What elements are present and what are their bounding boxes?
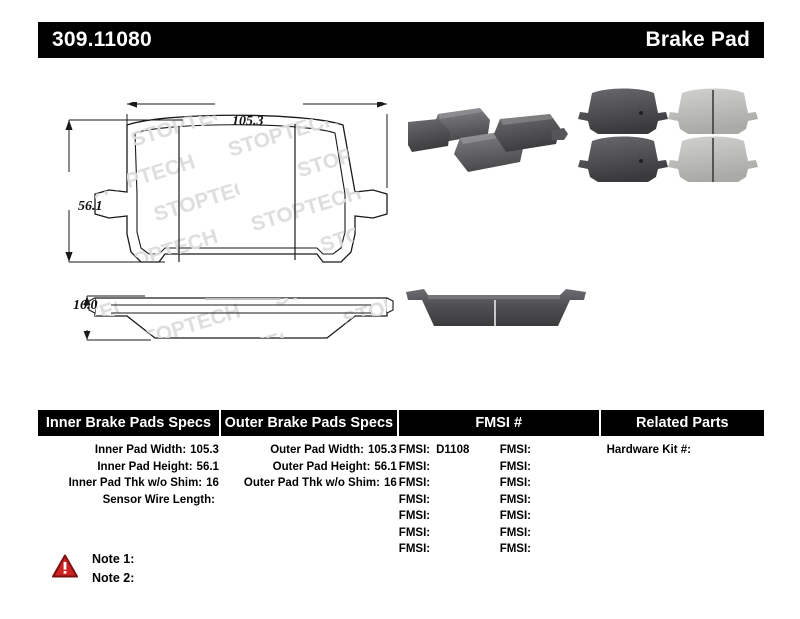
- inner-specs-cell: Inner Pad Width:105.3 Inner Pad Height:5…: [38, 442, 221, 558]
- fmsi-row: FMSI:: [399, 508, 500, 525]
- spec-value: 56.1: [370, 461, 396, 473]
- fmsi-label: FMSI:: [399, 543, 430, 555]
- table-header-row: Inner Brake Pads Specs Outer Brake Pads …: [38, 410, 764, 436]
- spec-value: 105.3: [364, 444, 397, 456]
- fmsi-row: FMSI:: [500, 492, 601, 509]
- column-header-inner-specs: Inner Brake Pads Specs: [38, 410, 221, 436]
- spec-value: [215, 494, 219, 506]
- spec-label: Sensor Wire Length:: [103, 494, 215, 506]
- fmsi-row: FMSI:: [500, 442, 601, 459]
- part-number: 309.11080: [52, 28, 152, 52]
- fmsi-row: FMSI:: [399, 459, 500, 476]
- fmsi-value: D1108: [430, 444, 469, 456]
- spec-row: Outer Pad Height:56.1: [221, 459, 399, 476]
- note-2: Note 2:: [92, 569, 134, 588]
- fmsi-label: FMSI:: [500, 543, 531, 555]
- fmsi-value: [430, 543, 436, 555]
- fmsi-label: FMSI:: [500, 461, 531, 473]
- spec-row: Sensor Wire Length:: [38, 492, 221, 509]
- fmsi-row: FMSI:: [399, 492, 500, 509]
- fmsi-row: FMSI:: [500, 508, 601, 525]
- fmsi-row: FMSI:D1108: [399, 442, 500, 459]
- product-type: Brake Pad: [645, 28, 750, 52]
- column-header-fmsi: FMSI #: [399, 410, 601, 436]
- brake-pad-set-angled-photo: [408, 90, 583, 180]
- fmsi-label: FMSI:: [500, 444, 531, 456]
- brake-pad-edge-photo: [398, 270, 594, 340]
- fmsi-value: [430, 461, 436, 473]
- fmsi-value: [430, 494, 436, 506]
- fmsi-label: FMSI:: [500, 494, 531, 506]
- column-header-related-parts: Related Parts: [601, 410, 764, 436]
- warning-triangle-icon: [52, 554, 78, 578]
- fmsi-row: FMSI:: [500, 475, 601, 492]
- spec-row: Inner Pad Width:105.3: [38, 442, 221, 459]
- fmsi-value: [531, 543, 537, 555]
- fmsi-label: FMSI:: [500, 477, 531, 489]
- related-parts-cell: Hardware Kit #:: [601, 442, 764, 558]
- spec-label: Outer Pad Height:: [273, 461, 371, 473]
- fmsi-row: FMSI:: [399, 541, 500, 558]
- fmsi-column-left: FMSI:D1108 FMSI: FMSI: FMSI: FMSI: FMSI:…: [399, 442, 500, 558]
- fmsi-row: FMSI:: [500, 541, 601, 558]
- outer-specs-cell: Outer Pad Width:105.3 Outer Pad Height:5…: [221, 442, 399, 558]
- spec-table: Inner Brake Pads Specs Outer Brake Pads …: [38, 410, 764, 558]
- fmsi-value: [531, 527, 537, 539]
- fmsi-row: FMSI:: [399, 475, 500, 492]
- fmsi-row: FMSI:: [500, 459, 601, 476]
- fmsi-value: [430, 477, 436, 489]
- spec-label: Inner Pad Height:: [97, 461, 192, 473]
- related-part-row: Hardware Kit #:: [601, 442, 764, 459]
- spec-row: Outer Pad Thk w/o Shim:16: [221, 475, 399, 492]
- spec-row: Outer Pad Width:105.3: [221, 442, 399, 459]
- related-part-label: Hardware Kit #:: [607, 444, 691, 456]
- spec-value: 16: [202, 477, 219, 489]
- thickness-dimension-label: 16.0: [73, 298, 98, 314]
- related-part-value: [691, 444, 697, 456]
- height-dimension-label: 56.1: [78, 199, 103, 215]
- fmsi-row: FMSI:: [399, 525, 500, 542]
- header-bar: 309.11080 Brake Pad: [38, 22, 764, 58]
- fmsi-label: FMSI:: [399, 494, 430, 506]
- fmsi-label: FMSI:: [500, 510, 531, 522]
- spec-value: 105.3: [186, 444, 219, 456]
- fmsi-value: [531, 444, 537, 456]
- fmsi-value: [531, 477, 537, 489]
- fmsi-value: [531, 494, 537, 506]
- fmsi-label: FMSI:: [500, 527, 531, 539]
- spec-value: 56.1: [193, 461, 219, 473]
- column-header-outer-specs: Outer Brake Pads Specs: [221, 410, 399, 436]
- width-dimension-label: 105.3: [232, 114, 264, 130]
- spec-value: 16: [380, 477, 397, 489]
- spec-row: Inner Pad Height:56.1: [38, 459, 221, 476]
- spec-label: Inner Pad Thk w/o Shim:: [69, 477, 203, 489]
- notes-section: Note 1: Note 2:: [52, 550, 134, 588]
- fmsi-cell: FMSI:D1108 FMSI: FMSI: FMSI: FMSI: FMSI:…: [399, 442, 601, 558]
- fmsi-label: FMSI:: [399, 461, 430, 473]
- spec-label: Outer Pad Width:: [270, 444, 364, 456]
- fmsi-label: FMSI:: [399, 477, 430, 489]
- spec-label: Outer Pad Thk w/o Shim:: [244, 477, 380, 489]
- note-1: Note 1:: [92, 550, 134, 569]
- spec-label: Inner Pad Width:: [95, 444, 186, 456]
- fmsi-value: [430, 527, 436, 539]
- brake-pad-set-front-back-photo: [578, 85, 760, 193]
- fmsi-value: [430, 510, 436, 522]
- fmsi-label: FMSI:: [399, 444, 430, 456]
- fmsi-value: [531, 461, 537, 473]
- spec-row: Inner Pad Thk w/o Shim:16: [38, 475, 221, 492]
- fmsi-label: FMSI:: [399, 527, 430, 539]
- fmsi-label: FMSI:: [399, 510, 430, 522]
- fmsi-row: FMSI:: [500, 525, 601, 542]
- fmsi-column-right: FMSI: FMSI: FMSI: FMSI: FMSI: FMSI: FMSI…: [500, 442, 601, 558]
- drawings-area: STOPTECH STOPTECH: [0, 70, 800, 400]
- fmsi-value: [531, 510, 537, 522]
- table-body: Inner Pad Width:105.3 Inner Pad Height:5…: [38, 436, 764, 558]
